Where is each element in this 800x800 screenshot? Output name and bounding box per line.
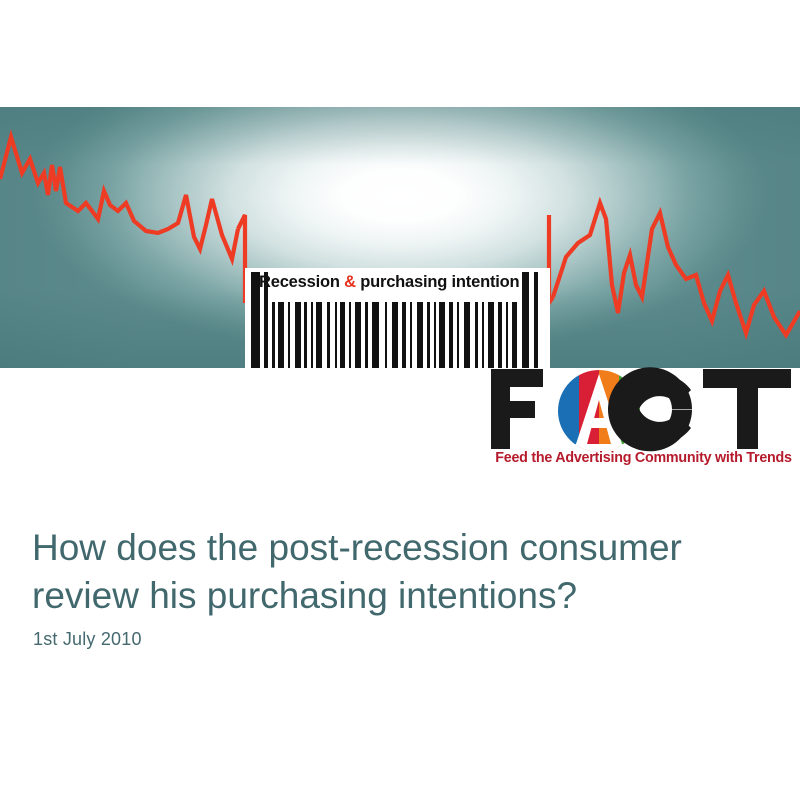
- logo-letter-f: [491, 369, 543, 449]
- fact-logo-tagline: Feed the Advertising Community with Tren…: [492, 450, 795, 466]
- logo-letter-t: [703, 369, 791, 449]
- page-title-line-2: review his purchasing intentions?: [32, 572, 762, 620]
- recession-banner: Recession & purchasing intention: [0, 107, 800, 368]
- barcode-graphic: Recession & purchasing intention: [245, 268, 550, 368]
- publication-date: 1st July 2010: [33, 629, 142, 650]
- page-title: How does the post-recession consumer rev…: [32, 524, 762, 620]
- page-title-line-1: How does the post-recession consumer: [32, 524, 762, 572]
- fact-logo-mark-icon: [489, 366, 795, 452]
- barcode-bars-icon: [245, 268, 550, 368]
- fact-logo: Feed the Advertising Community with Tren…: [489, 366, 795, 478]
- title-slide: Recession & purchasing intention: [0, 0, 800, 800]
- logo-letter-c: [608, 367, 692, 451]
